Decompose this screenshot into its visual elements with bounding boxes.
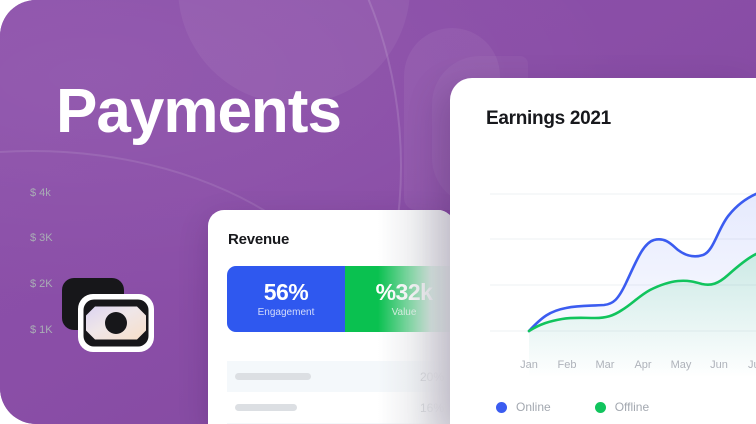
x-axis-tick: Mar — [596, 359, 615, 371]
earnings-card: Earnings 2021 — [450, 78, 756, 424]
payments-promo-card: Payments Revenue 56% Engagement — [0, 0, 756, 424]
legend-item-online[interactable]: Online — [496, 400, 551, 414]
legend-item-offline[interactable]: Offline — [595, 400, 649, 414]
page-title: Payments — [56, 79, 341, 144]
stat-value[interactable]: %32k Value — [345, 266, 454, 332]
y-axis-tick: $ 4k — [30, 187, 82, 199]
legend-label-online: Online — [516, 400, 551, 414]
revenue-card: Revenue 56% Engagement %32k Value 20% 16… — [208, 210, 454, 424]
list-item[interactable]: 20% — [227, 361, 454, 392]
list-item-percent: 16% — [420, 401, 444, 415]
x-axis-tick: Jul — [748, 359, 756, 371]
legend-label-offline: Offline — [615, 400, 649, 414]
revenue-stats: 56% Engagement %32k Value — [227, 266, 454, 332]
x-axis-tick: Jan — [520, 359, 538, 371]
earnings-line-chart — [450, 78, 756, 424]
x-axis-tick: May — [671, 359, 692, 371]
legend-dot-offline — [595, 402, 606, 413]
y-axis-tick: $ 1K — [30, 324, 82, 336]
stat-engagement-label: Engagement — [258, 307, 315, 318]
x-axis-tick: Apr — [634, 359, 651, 371]
y-axis-tick: $ 2K — [30, 278, 82, 290]
y-axis-tick: $ 3K — [30, 232, 82, 244]
legend-dot-online — [496, 402, 507, 413]
x-axis-tick: Jun — [710, 359, 728, 371]
x-axis-tick: Feb — [558, 359, 577, 371]
stat-value-value: %32k — [376, 280, 433, 305]
stat-engagement[interactable]: 56% Engagement — [227, 266, 345, 332]
stat-value-label: Value — [392, 307, 417, 318]
list-item-percent: 20% — [420, 370, 444, 384]
stat-engagement-value: 56% — [264, 280, 309, 305]
placeholder-bar — [235, 404, 297, 411]
revenue-card-title: Revenue — [228, 231, 289, 248]
placeholder-bar — [235, 373, 311, 380]
list-item[interactable]: 16% — [227, 392, 454, 423]
chart-legend: Online Offline — [496, 400, 649, 414]
